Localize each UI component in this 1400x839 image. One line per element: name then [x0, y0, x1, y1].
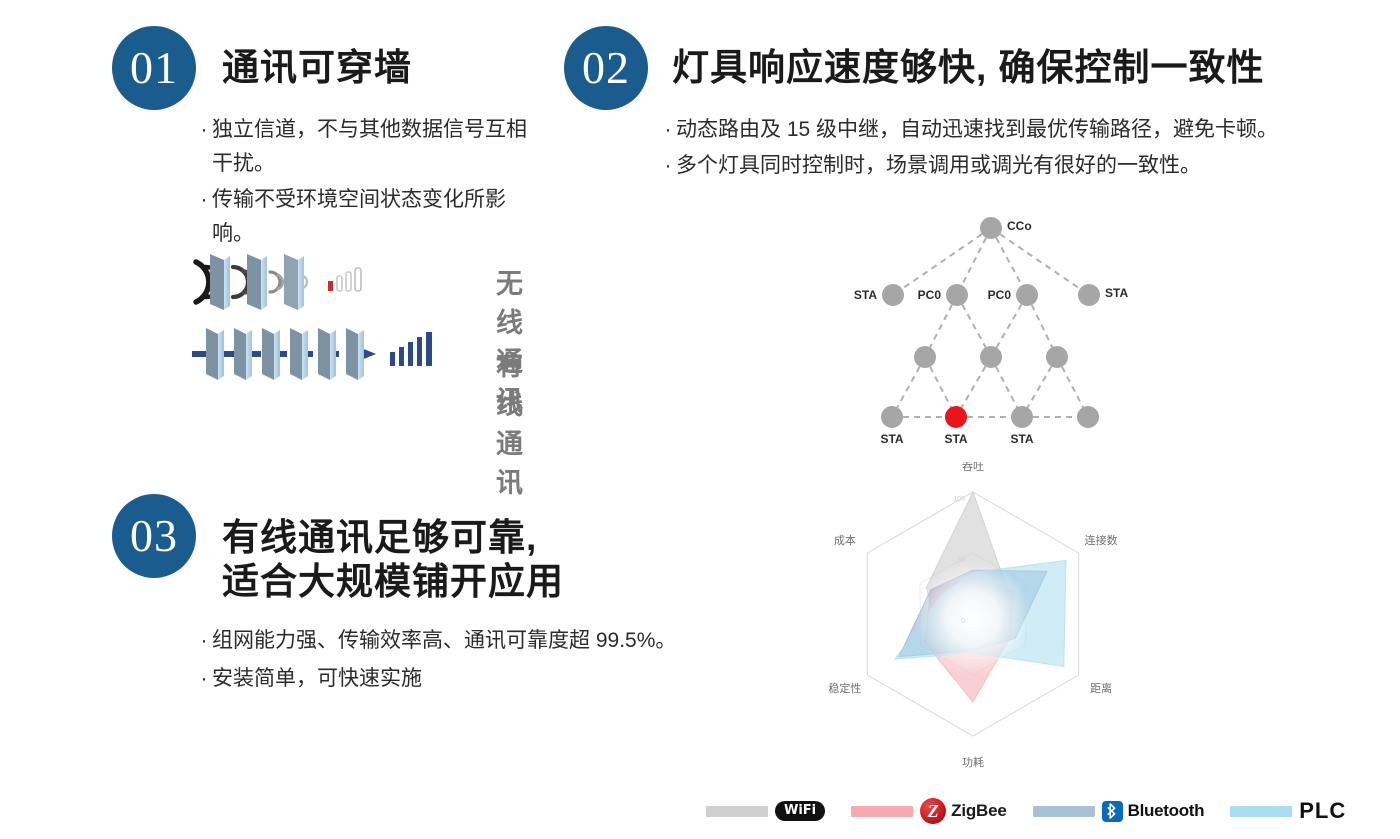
network-node-pco2[interactable]: PC0	[988, 284, 1038, 306]
bullet-text: 安装简单，可快速实施	[212, 661, 816, 697]
bullet-item: · 组网能力强、传输效率高、通讯可靠度超 99.5%。	[196, 623, 816, 659]
node-dot	[1046, 346, 1068, 368]
section-number-03: 03	[130, 513, 178, 559]
bullet-marker: ·	[660, 113, 676, 147]
legend-item-wifi[interactable]: WiFi	[706, 801, 825, 821]
bullet-text: 多个灯具同时控制时，场景调用或调光有很好的一致性。	[676, 149, 1300, 183]
network-node-b4[interactable]	[1077, 406, 1099, 428]
wall-wired-3	[262, 328, 280, 380]
network-link	[957, 228, 991, 295]
chart-legend: WiFi Z ZigBee Bluetooth PLC	[706, 798, 1372, 824]
bullet-item: · 多个灯具同时控制时，场景调用或调光有很好的一致性。	[660, 149, 1300, 183]
node-dot	[1078, 284, 1100, 306]
network-link	[991, 228, 1089, 295]
legend-swatch-plc	[1230, 806, 1292, 817]
legend-swatch-zigbee	[851, 806, 913, 817]
bullet-marker: ·	[196, 623, 212, 659]
wall-wireless-3	[284, 254, 304, 310]
node-label: STA	[854, 288, 877, 302]
network-node-m3[interactable]	[1046, 346, 1068, 368]
wall-wired-5	[318, 328, 336, 380]
legend-swatch-wifi	[706, 806, 768, 817]
node-label: PC0	[988, 288, 1012, 302]
section-title-02: 灯具响应速度够快, 确保控制一致性	[672, 46, 1265, 90]
bullet-marker: ·	[660, 149, 676, 183]
radar-svg: 100500吞吐连接数距离功耗稳定性成本	[795, 462, 1165, 792]
network-node-sta1[interactable]: STA	[854, 284, 904, 306]
radar-axis-label: 稳定性	[828, 681, 861, 695]
wall-wireless-1	[210, 254, 230, 310]
legend-swatch-bluetooth	[1033, 806, 1095, 817]
node-label: STA	[1010, 432, 1033, 445]
radar-tick-label: 100	[953, 496, 965, 503]
radar-axis-label: 吞吐	[962, 462, 984, 473]
section-badge-02: 02	[564, 26, 648, 110]
radar-tick-label: 50	[957, 557, 965, 564]
node-dot	[946, 284, 968, 306]
section-number-01: 01	[130, 45, 178, 91]
node-label: PC0	[918, 288, 942, 302]
bullet-marker: ·	[196, 113, 212, 147]
wall-wireless-2	[247, 254, 267, 310]
bullet-marker: ·	[196, 183, 212, 217]
legend-item-zigbee[interactable]: Z ZigBee	[851, 798, 1006, 824]
network-svg: CCoSTAPC0PC0STASTASTASTA	[840, 210, 1150, 445]
bluetooth-label: Bluetooth	[1128, 801, 1205, 821]
network-link	[991, 228, 1027, 295]
bullet-item: · 动态路由及 15 级中继，自动迅速找到最优传输路径，避免卡顿。	[660, 113, 1300, 147]
network-node-cco[interactable]: CCo	[980, 217, 1032, 239]
node-dot	[980, 217, 1002, 239]
section-title-01: 通讯可穿墙	[222, 46, 412, 90]
radar-axis-label: 功耗	[962, 756, 984, 769]
wired-label: 有线通讯	[496, 344, 525, 500]
section-badge-03: 03	[112, 494, 196, 578]
node-label: CCo	[1007, 219, 1032, 233]
network-node-sta2[interactable]: STA	[1078, 284, 1128, 306]
wifi-icon: WiFi	[775, 801, 825, 821]
wall-wired-1	[206, 328, 224, 380]
bluetooth-icon	[1102, 801, 1123, 822]
bullet-text: 动态路由及 15 级中继，自动迅速找到最优传输路径，避免卡顿。	[676, 113, 1300, 147]
wall-penetration-illustration: 无线通讯 有线通讯	[186, 248, 486, 398]
node-dot	[914, 346, 936, 368]
network-link	[893, 228, 991, 295]
legend-item-plc[interactable]: PLC	[1230, 798, 1346, 824]
node-dot	[882, 284, 904, 306]
node-label: STA	[880, 432, 903, 445]
node-dot	[1011, 406, 1033, 428]
radar-axis-label: 距离	[1090, 681, 1112, 695]
node-dot	[945, 406, 967, 428]
radar-tick-label: 0	[961, 618, 965, 625]
network-node-m1[interactable]	[914, 346, 936, 368]
wall-wired-4	[290, 328, 308, 380]
wall-wired-2	[234, 328, 252, 380]
bullet-item: · 安装简单，可快速实施	[196, 661, 816, 697]
bluetooth-glyph	[1106, 803, 1118, 819]
wifi-logo-text: WiFi	[775, 801, 825, 821]
section-number-02: 02	[582, 45, 630, 91]
wired-signal-bars	[390, 332, 432, 366]
zigbee-icon: Z	[920, 798, 946, 824]
node-dot	[881, 406, 903, 428]
section-title-03: 有线通讯足够可靠, 适合大规模铺开应用	[222, 516, 564, 603]
slide-root: 01 通讯可穿墙 · 独立信道，不与其他数据信号互相干扰。 · 传输不受环境空间…	[0, 0, 1400, 839]
section-bullets-01: · 独立信道，不与其他数据信号互相干扰。 · 传输不受环境空间状态变化所影响。	[196, 113, 546, 253]
section-bullets-02: · 动态路由及 15 级中继，自动迅速找到最优传输路径，避免卡顿。 · 多个灯具…	[660, 113, 1300, 185]
node-dot	[980, 346, 1002, 368]
network-node-pco1[interactable]: PC0	[918, 284, 968, 306]
section-bullets-03: · 组网能力强、传输效率高、通讯可靠度超 99.5%。 · 安装简单，可快速实施	[196, 623, 816, 699]
wireless-signal-bars	[328, 268, 361, 291]
radar-axis-label: 成本	[834, 533, 856, 547]
network-node-b2[interactable]: STA	[944, 406, 967, 445]
bullet-text: 独立信道，不与其他数据信号互相干扰。	[212, 113, 546, 181]
node-label: STA	[944, 432, 967, 445]
bullet-text: 组网能力强、传输效率高、通讯可靠度超 99.5%。	[212, 623, 816, 659]
bullet-marker: ·	[196, 661, 212, 697]
network-links	[892, 228, 1089, 417]
node-dot	[1077, 406, 1099, 428]
radar-chart: 100500吞吐连接数距离功耗稳定性成本	[795, 462, 1165, 797]
walls-svg	[186, 248, 486, 393]
legend-item-bluetooth[interactable]: Bluetooth	[1033, 801, 1205, 822]
bullet-item: · 传输不受环境空间状态变化所影响。	[196, 183, 546, 251]
node-label: STA	[1105, 286, 1128, 300]
network-node-b1[interactable]: STA	[880, 406, 903, 445]
radar-axis-label: 连接数	[1085, 534, 1118, 547]
section-badge-01: 01	[112, 26, 196, 110]
wall-wired-6	[346, 328, 364, 380]
bullet-text: 传输不受环境空间状态变化所影响。	[212, 183, 546, 251]
radar-center-glow	[915, 560, 1031, 676]
bullet-item: · 独立信道，不与其他数据信号互相干扰。	[196, 113, 546, 181]
zigbee-label: ZigBee	[951, 801, 1006, 821]
node-dot	[1016, 284, 1038, 306]
network-node-m2[interactable]	[980, 346, 1002, 368]
plc-label: PLC	[1299, 798, 1346, 824]
network-node-b3[interactable]: STA	[1010, 406, 1033, 445]
mesh-network-diagram: CCoSTAPC0PC0STASTASTASTA	[840, 210, 1150, 450]
